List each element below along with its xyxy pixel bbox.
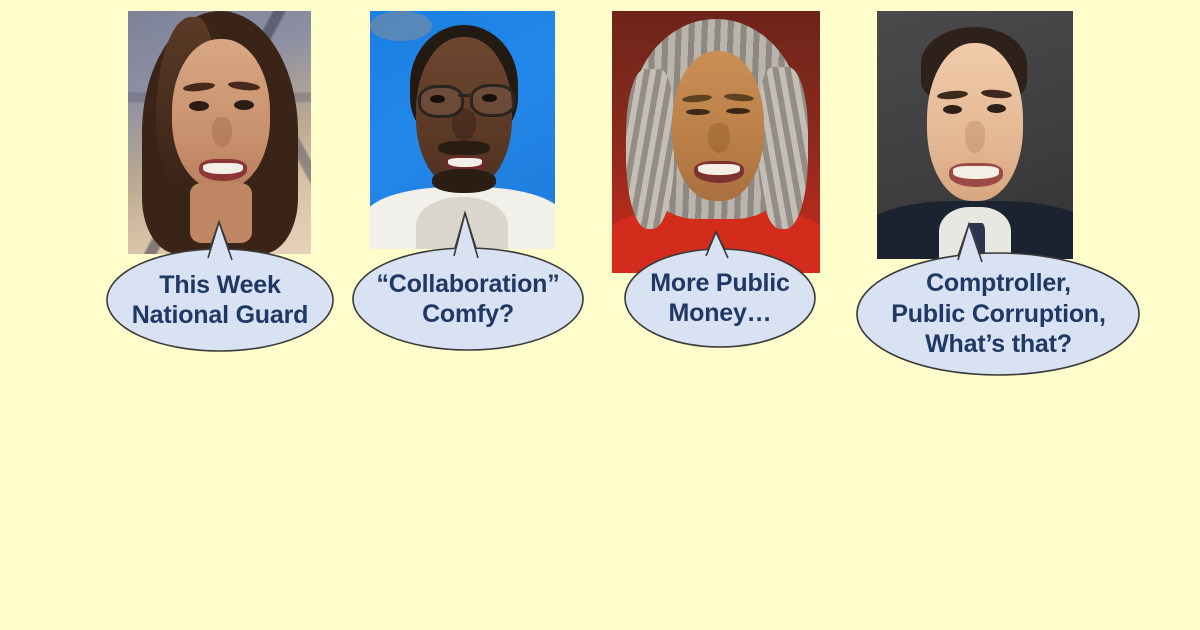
nose-1 bbox=[212, 117, 232, 147]
nose-2 bbox=[452, 109, 476, 141]
teeth-1 bbox=[203, 163, 243, 174]
photo-image-1 bbox=[128, 11, 311, 254]
eye-left-1 bbox=[189, 101, 209, 111]
eye-right-1 bbox=[234, 100, 254, 110]
portrait-photo-woman-dark-hair bbox=[128, 11, 311, 254]
speech-bubble-shape-2 bbox=[352, 247, 584, 351]
eye-left-4 bbox=[943, 105, 962, 114]
glasses-bridge-2 bbox=[458, 94, 470, 97]
teeth-4 bbox=[953, 166, 999, 179]
poster-canvas: This Week National Guard “Collaboration”… bbox=[0, 0, 1200, 630]
nose-4 bbox=[965, 121, 985, 153]
speech-bubble-1: This Week National Guard bbox=[106, 248, 334, 352]
moustache-2 bbox=[438, 141, 490, 155]
hair-locs-right-3 bbox=[758, 67, 808, 229]
eye-right-2 bbox=[482, 94, 497, 102]
speech-bubble-4: Comptroller, Public Corruption, What’s t… bbox=[856, 252, 1141, 376]
beard-2 bbox=[432, 169, 496, 193]
teeth-2 bbox=[448, 158, 482, 167]
nose-3 bbox=[708, 123, 730, 153]
hair-locs-left-3 bbox=[626, 69, 674, 229]
forehead-highlight-2 bbox=[370, 11, 432, 41]
photo-image-4 bbox=[877, 11, 1073, 259]
speech-bubble-3: More Public Money… bbox=[624, 248, 816, 348]
eye-right-3 bbox=[726, 108, 750, 114]
portrait-photo-man-glasses-blue-background bbox=[370, 11, 555, 249]
speech-bubble-2: “Collaboration” Comfy? bbox=[352, 247, 584, 351]
speech-bubble-shape-4 bbox=[856, 252, 1141, 376]
speech-bubble-shape-3 bbox=[624, 248, 816, 348]
portrait-photo-man-suit-gray-background bbox=[877, 11, 1073, 259]
eye-left-2 bbox=[430, 95, 445, 103]
eye-right-4 bbox=[987, 104, 1006, 113]
teeth-3 bbox=[698, 164, 740, 175]
eye-left-3 bbox=[686, 109, 710, 115]
photo-image-2 bbox=[370, 11, 555, 249]
speech-bubble-shape-1 bbox=[106, 248, 334, 352]
